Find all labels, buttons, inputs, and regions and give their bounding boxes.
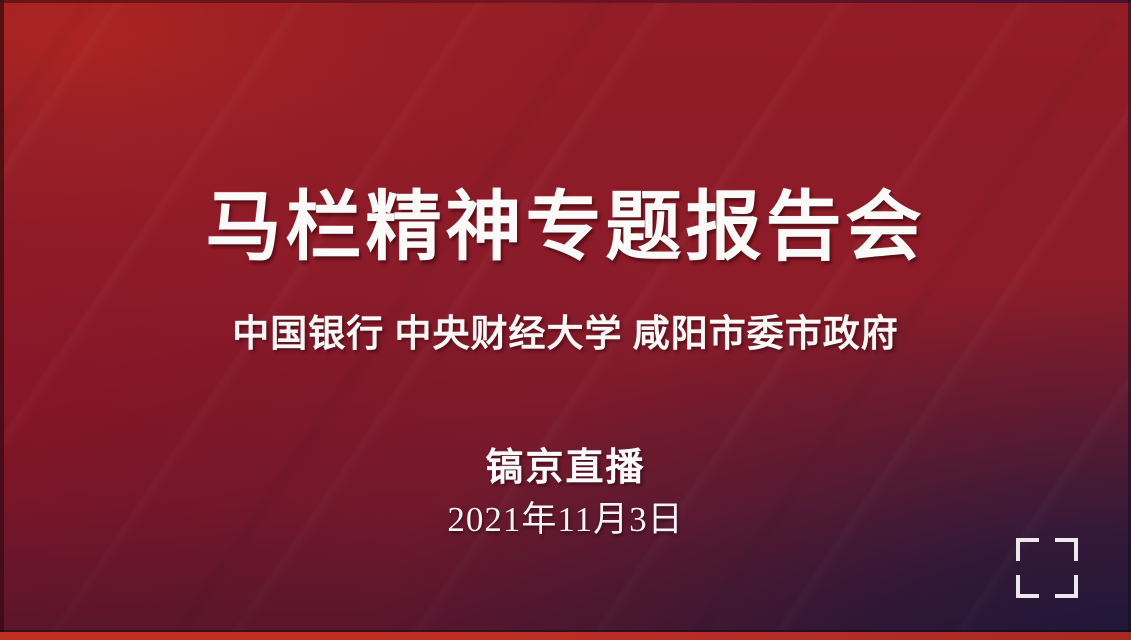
livestream-title-card: 马栏精神专题报告会 中国银行 中央财经大学 咸阳市委市政府 镐京直播 2021年… xyxy=(0,0,1131,640)
text-block: 马栏精神专题报告会 中国银行 中央财经大学 咸阳市委市政府 镐京直播 2021年… xyxy=(0,0,1131,640)
event-organizers: 中国银行 中央财经大学 咸阳市委市政府 xyxy=(0,312,1131,358)
bracket-bottom-left xyxy=(1016,575,1039,598)
event-title: 马栏精神专题报告会 xyxy=(0,182,1131,274)
event-date: 2021年11月3日 xyxy=(0,498,1131,542)
bracket-top-left xyxy=(1016,538,1039,561)
channel-name: 镐京直播 xyxy=(0,444,1131,492)
fullscreen-brackets-icon[interactable] xyxy=(1016,538,1078,598)
bracket-top-right xyxy=(1055,538,1078,561)
bracket-bottom-right xyxy=(1055,575,1078,598)
